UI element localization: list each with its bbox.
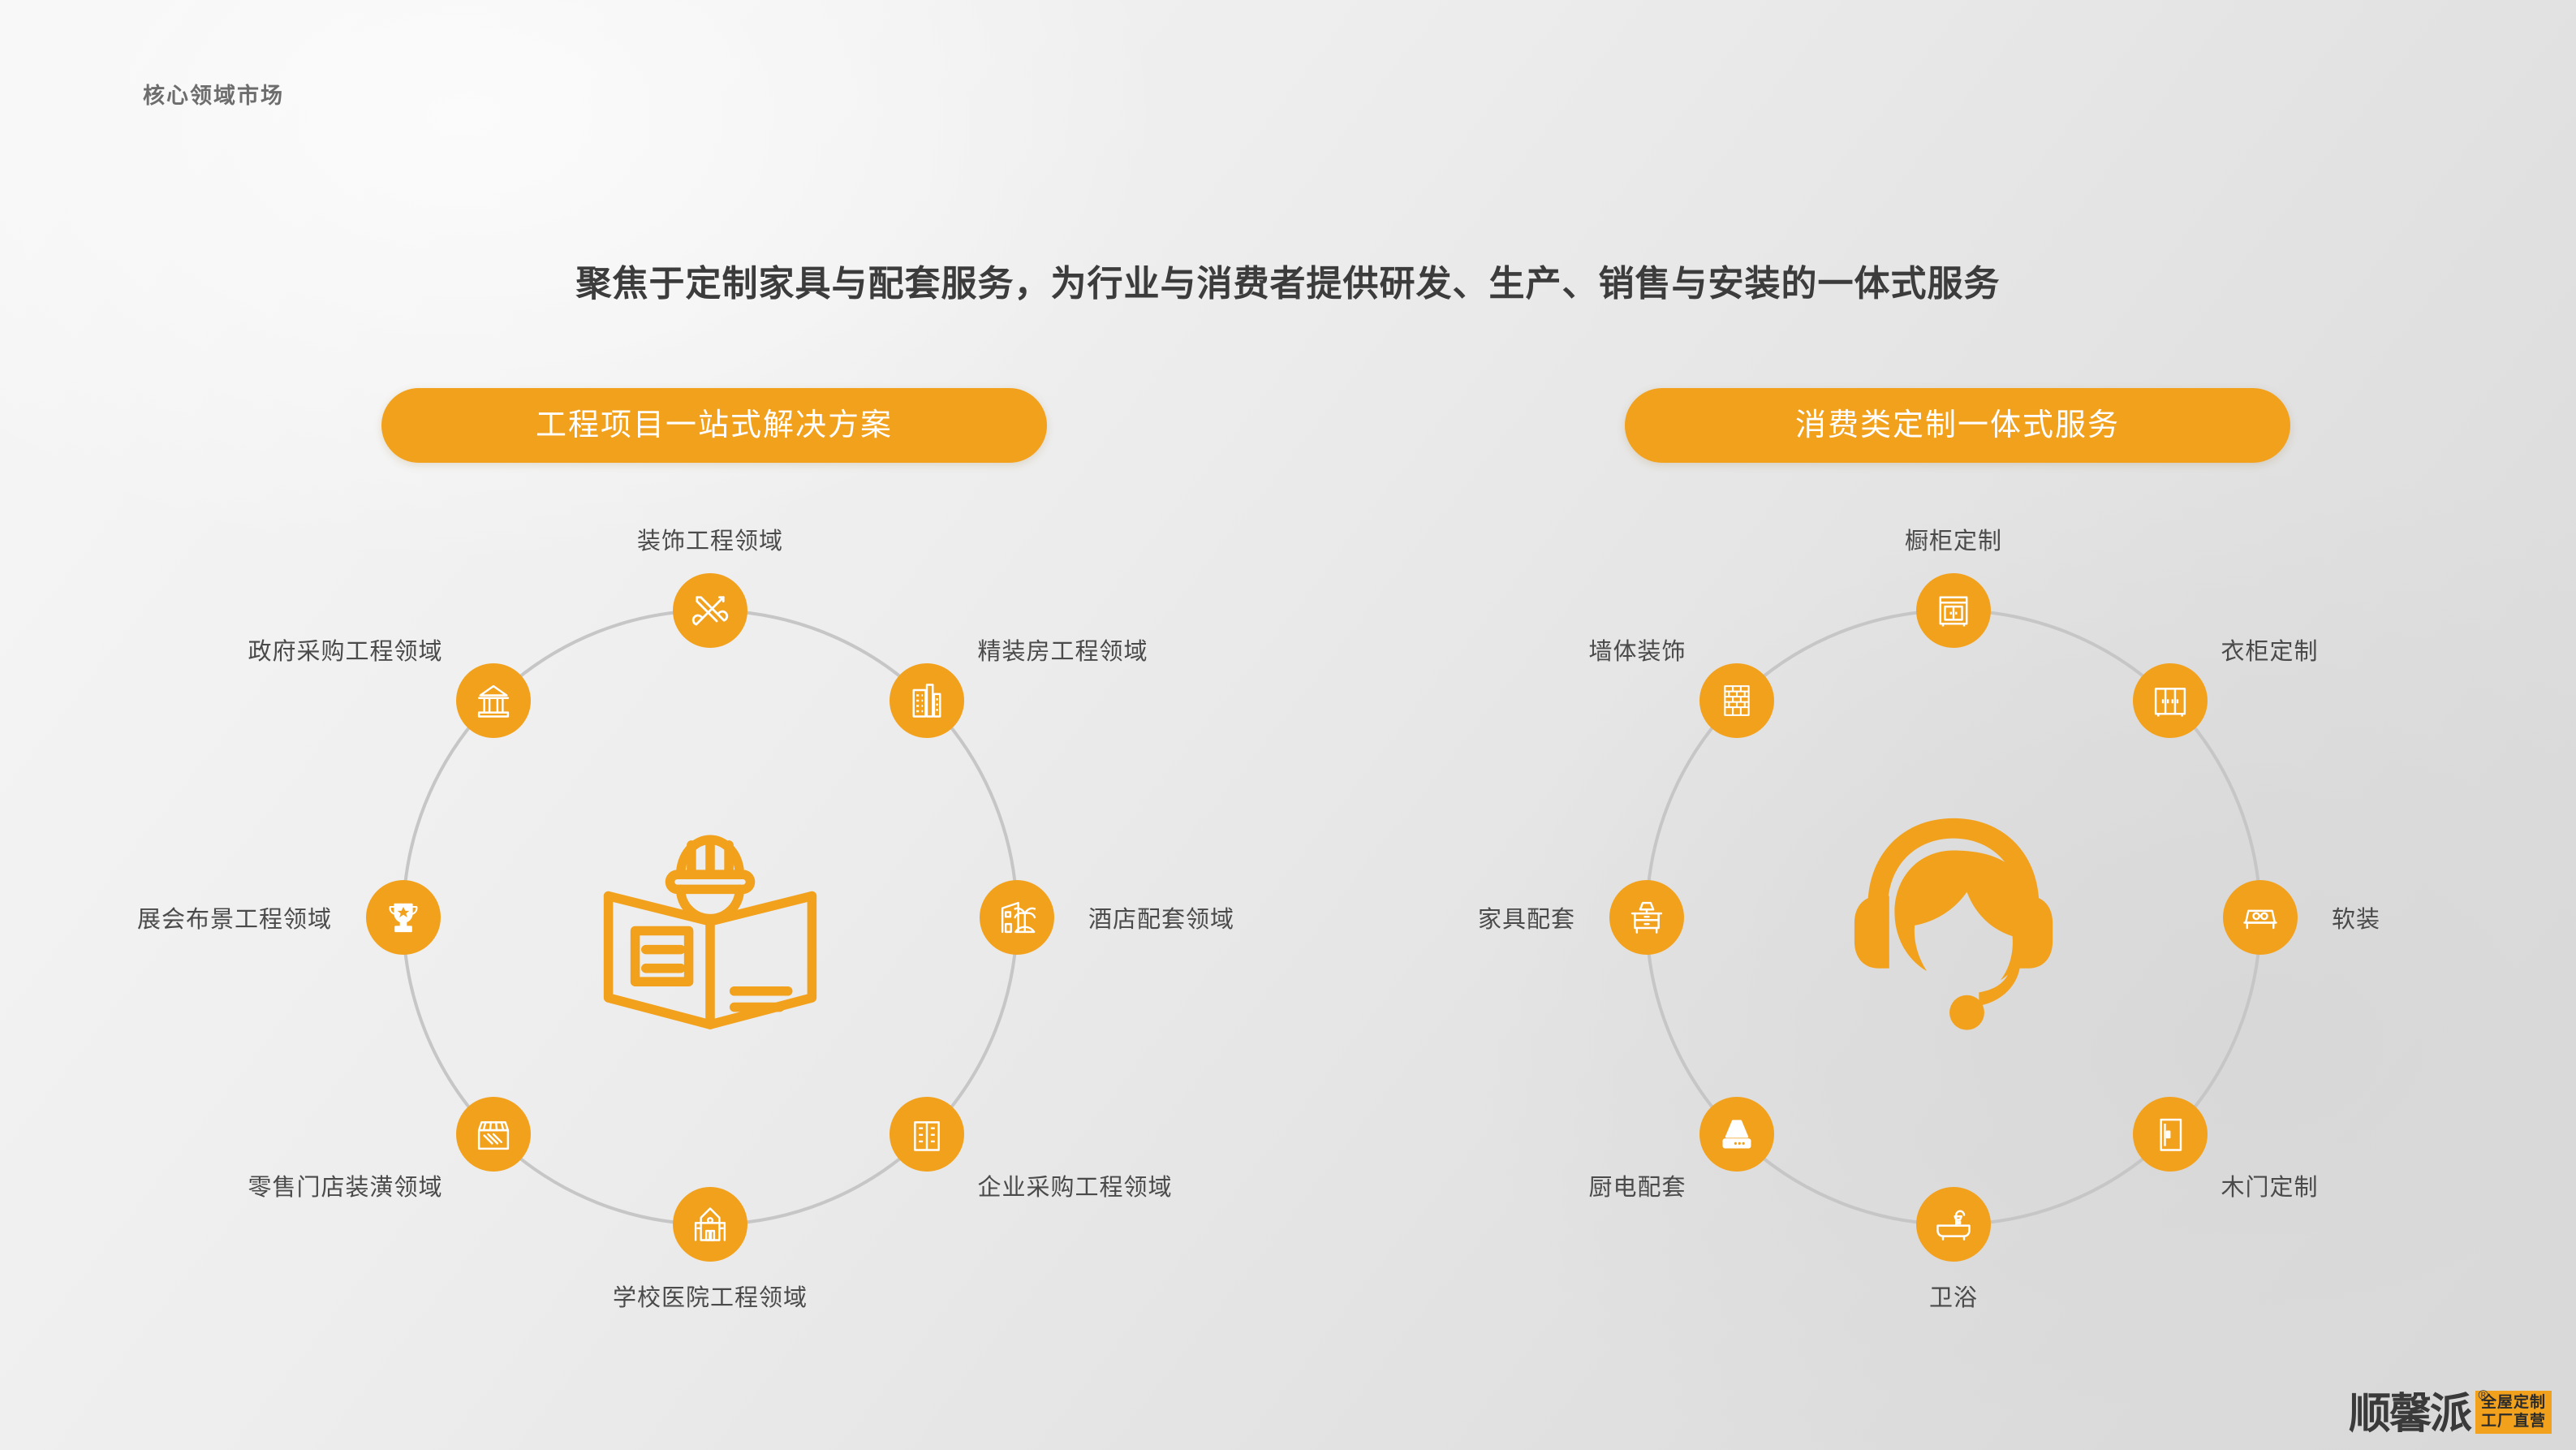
left_panel-node-label-8: 政府采购工程领域 <box>248 632 442 667</box>
brick-wall-icon <box>1716 680 1758 722</box>
left-wheel-diagram: 装饰工程领域精装房工程领域酒店配套领域企业采购工程领域学校医院工程领域零售门店装… <box>402 609 1019 1226</box>
right_panel-node-1[interactable] <box>1916 573 1991 648</box>
right_panel-node-label-7: 家具配套 <box>1478 900 1575 934</box>
logo-wordmark-text: 顺馨派 <box>2349 1391 2470 1438</box>
left_panel-node-2[interactable] <box>890 663 964 738</box>
bed-icon <box>2239 896 2281 939</box>
right_panel-node-label-1: 橱柜定制 <box>1905 522 2002 556</box>
left_panel-node-label-5: 学校医院工程领域 <box>613 1279 808 1313</box>
left_panel-node-6[interactable] <box>456 1097 531 1172</box>
trophy-icon <box>382 896 424 939</box>
left_panel-node-label-2: 精装房工程领域 <box>978 632 1148 667</box>
left_panel-node-3[interactable] <box>980 880 1054 955</box>
office-building-icon <box>906 1113 948 1155</box>
left-panel-pill[interactable]: 工程项目一站式解决方案 <box>381 388 1047 463</box>
logo-badge-line-2: 工厂直营 <box>2481 1413 2546 1431</box>
wardrobe-icon <box>2149 680 2191 722</box>
right_panel-node-7[interactable] <box>1609 880 1684 955</box>
right_panel-node-2[interactable] <box>2133 663 2208 738</box>
left_panel-node-1[interactable] <box>673 573 747 648</box>
bathtub-icon <box>1932 1203 1975 1245</box>
logo-badge: 全屋定制 工厂直营 <box>2475 1391 2552 1434</box>
brand-logo: 顺馨派® 全屋定制 工厂直营 <box>2349 1391 2552 1435</box>
page-title: 聚焦于定制家具与配套服务，为行业与消费者提供研发、生产、销售与安装的一体式服务 <box>0 254 2576 306</box>
hotel-palm-icon <box>996 896 1038 939</box>
left_panel-node-4[interactable] <box>890 1097 964 1172</box>
left_panel-node-label-6: 零售门店装潢领域 <box>248 1168 442 1202</box>
storefront-icon <box>472 1113 515 1155</box>
skyscraper-icon <box>906 680 948 722</box>
bank-columns-icon <box>472 680 515 722</box>
right-wheel-diagram: 橱柜定制衣柜定制软装木门定制卫浴厨电配套家具配套墙体装饰 <box>1645 609 2262 1226</box>
right_panel-node-5[interactable] <box>1916 1187 1991 1262</box>
left_panel-node-8[interactable] <box>456 663 531 738</box>
logo-wordmark: 顺馨派® <box>2349 1393 2470 1435</box>
right_panel-node-label-6: 厨电配套 <box>1588 1168 1686 1202</box>
page-eyebrow: 核心领域市场 <box>143 78 284 110</box>
door-icon <box>2149 1113 2191 1155</box>
left_panel-node-label-3: 酒店配套领域 <box>1088 900 1234 934</box>
right_panel-node-label-8: 墙体装饰 <box>1588 632 1686 667</box>
wrench-hammer-icon <box>689 589 731 632</box>
engineer-blueprint-icon <box>576 783 844 1051</box>
logo-badge-line-1: 全屋定制 <box>2481 1394 2546 1412</box>
left_panel-node-label-1: 装饰工程领域 <box>637 522 783 556</box>
range-hood-icon <box>1716 1113 1758 1155</box>
customer-service-headset-icon <box>1820 783 2087 1051</box>
registered-mark-icon: ® <box>2478 1388 2487 1402</box>
left_panel-node-label-7: 展会布景工程领域 <box>137 900 332 934</box>
cabinet-icon <box>1932 589 1975 632</box>
left_panel-node-7[interactable] <box>366 880 441 955</box>
school-building-icon <box>689 1203 731 1245</box>
right_panel-node-label-3: 软装 <box>2332 900 2380 934</box>
right_panel-node-label-5: 卫浴 <box>1929 1279 1978 1313</box>
right_panel-node-label-4: 木门定制 <box>2221 1168 2319 1202</box>
left_panel-node-5[interactable] <box>673 1187 747 1262</box>
right_panel-node-label-2: 衣柜定制 <box>2221 632 2319 667</box>
nightstand-icon <box>1626 896 1668 939</box>
right_panel-node-3[interactable] <box>2223 880 2298 955</box>
right_panel-node-8[interactable] <box>1699 663 1774 738</box>
left_panel-node-label-4: 企业采购工程领域 <box>978 1168 1173 1202</box>
right_panel-node-4[interactable] <box>2133 1097 2208 1172</box>
right_panel-node-6[interactable] <box>1699 1097 1774 1172</box>
right-panel-pill[interactable]: 消费类定制一体式服务 <box>1625 388 2290 463</box>
